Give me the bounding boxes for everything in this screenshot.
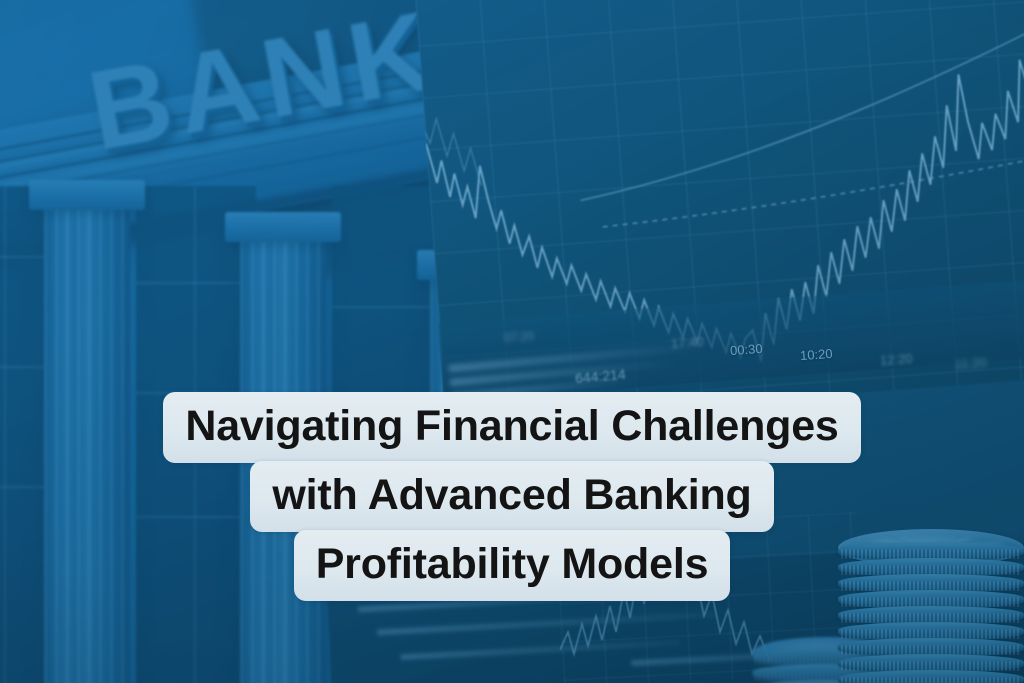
- title-block: Navigating Financial Challenges with Adv…: [0, 392, 1024, 601]
- title-line-3: Profitability Models: [294, 530, 731, 601]
- title-line-1: Navigating Financial Challenges: [163, 392, 860, 463]
- banner-image: BANK 07:20 17:40 00:30 10:20 12:20 11:20…: [0, 0, 1024, 683]
- title-line-2: with Advanced Banking: [250, 461, 773, 532]
